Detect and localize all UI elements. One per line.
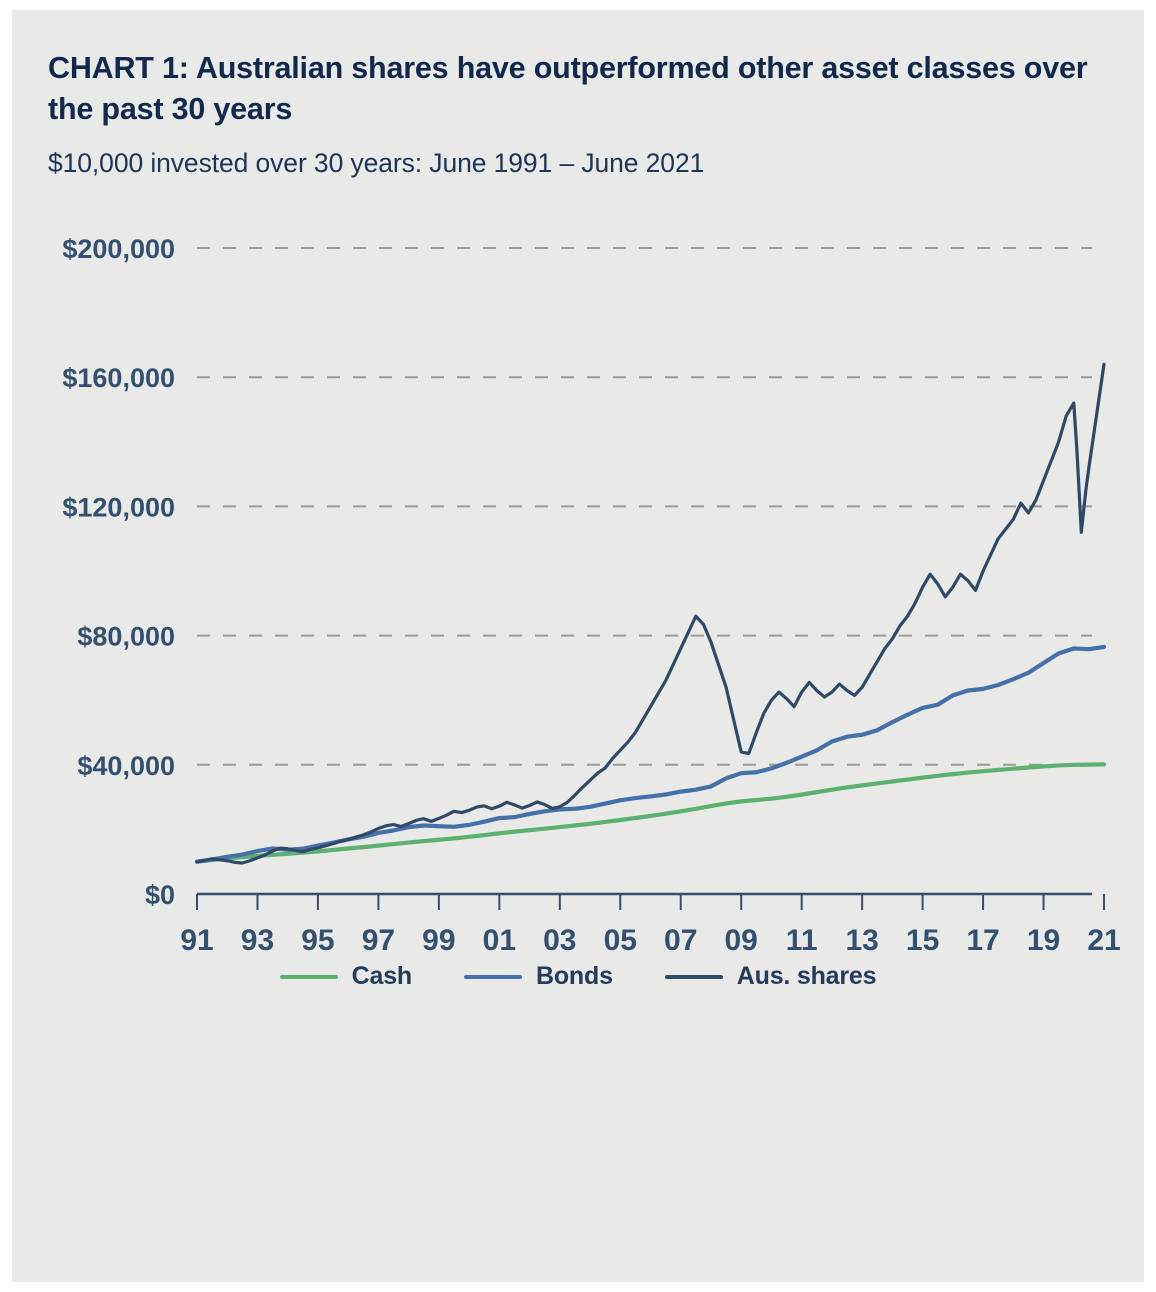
x-axis-tick-label: 21 [1087, 924, 1120, 957]
x-axis-tick-label: 95 [301, 924, 334, 957]
x-axis-labels: 91939597990103050709111315171921 [180, 924, 1120, 957]
line-chart: $200,000$160,000$120,000$80,000$40,000$0… [12, 210, 1144, 970]
x-axis-tick-label: 91 [180, 924, 213, 957]
chart-legend: Cash Bonds Aus. shares [12, 962, 1144, 991]
x-axis-tick-label: 97 [362, 924, 395, 957]
series-lines [197, 364, 1104, 863]
x-axis-tick-label: 93 [241, 924, 274, 957]
x-axis-tick-label: 13 [845, 924, 878, 957]
x-axis-tick-label: 05 [604, 924, 637, 957]
legend-swatch-bonds [464, 975, 522, 979]
legend-label-aus-shares: Aus. shares [737, 962, 877, 991]
legend-item-cash: Cash [280, 962, 412, 991]
x-axis-tick-label: 19 [1027, 924, 1060, 957]
y-axis-tick-label: $80,000 [77, 622, 175, 652]
y-axis-tick-label: $40,000 [77, 751, 175, 781]
series-line-cash [197, 764, 1104, 861]
x-axis-tick-label: 15 [906, 924, 939, 957]
x-axis-tick-label: 17 [966, 924, 999, 957]
x-axis [197, 894, 1104, 910]
legend-item-aus-shares: Aus. shares [665, 962, 877, 991]
page-subtitle: $10,000 invested over 30 years: June 199… [48, 148, 1108, 179]
series-line-bonds [197, 647, 1104, 862]
y-axis-tick-label: $200,000 [62, 234, 175, 264]
x-axis-tick-label: 01 [483, 924, 516, 957]
series-line-aus-shares [197, 364, 1104, 863]
chart-canvas: $200,000$160,000$120,000$80,000$40,000$0… [12, 210, 1144, 970]
y-axis-tick-label: $0 [145, 880, 175, 910]
legend-label-cash: Cash [352, 962, 412, 991]
y-axis-tick-label: $160,000 [62, 363, 175, 393]
x-axis-tick-label: 99 [422, 924, 455, 957]
x-axis-tick-label: 07 [664, 924, 697, 957]
legend-swatch-cash [280, 975, 338, 979]
page-title: CHART 1: Australian shares have outperfo… [48, 48, 1108, 129]
legend-item-bonds: Bonds [464, 962, 613, 991]
y-axis-tick-label: $120,000 [62, 492, 175, 522]
legend-swatch-aus-shares [665, 975, 723, 979]
x-axis-tick-label: 09 [725, 924, 758, 957]
x-axis-tick-label: 11 [786, 924, 818, 957]
legend-label-bonds: Bonds [536, 962, 613, 991]
chart-panel: CHART 1: Australian shares have outperfo… [12, 10, 1144, 1282]
x-axis-tick-label: 03 [543, 924, 576, 957]
average-returns-summary: Average returns (pa) CASH 4.6% BONDS 7.0… [12, 1052, 1144, 1252]
gridlines [197, 248, 1092, 765]
y-axis-labels: $200,000$160,000$120,000$80,000$40,000$0 [62, 234, 175, 910]
